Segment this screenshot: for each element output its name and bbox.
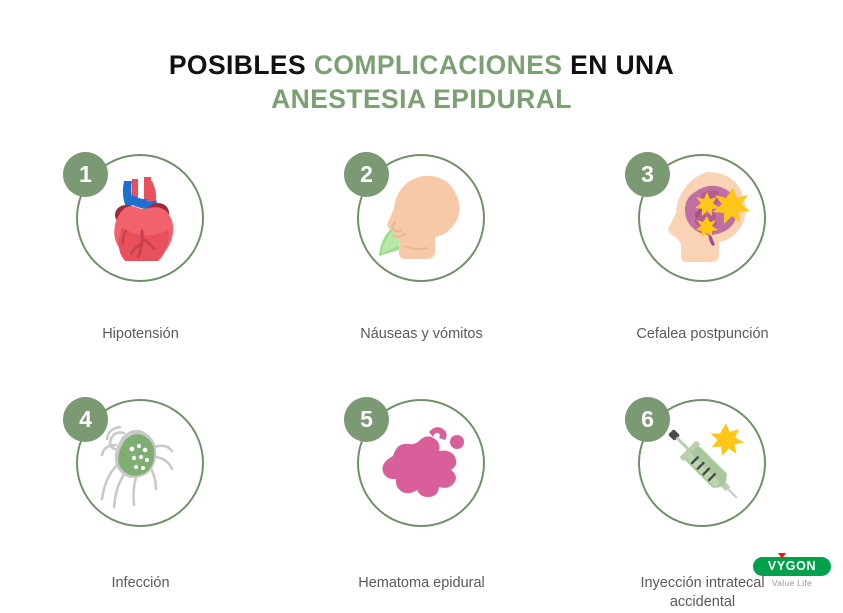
vygon-logo[interactable]: VYGON Value Life [749, 557, 835, 588]
step-badge-5: 5 [344, 397, 389, 442]
complication-item-2[interactable]: 2 Náuseas y vómitos [281, 152, 562, 345]
page-title: POSIBLES COMPLICACIONES EN UNA ANESTESIA… [0, 48, 843, 117]
complication-label-4: Infección [111, 574, 169, 594]
complication-label-5: Hematoma epidural [358, 574, 485, 594]
title-line-1: POSIBLES COMPLICACIONES EN UNA [0, 48, 843, 82]
complication-label-2: Náuseas y vómitos [360, 325, 483, 345]
complication-item-4[interactable]: 4 [0, 397, 281, 613]
vygon-red-tick-icon [778, 553, 786, 559]
title-word-enuna: EN UNA [562, 50, 674, 80]
grid-row-1: 1 [0, 152, 843, 345]
step-badge-4: 4 [63, 397, 108, 442]
icon-ring-wrap-1: 1 [63, 152, 218, 307]
infographic-root: POSIBLES COMPLICACIONES EN UNA ANESTESIA… [0, 0, 843, 596]
complication-label-3: Cefalea postpunción [636, 325, 768, 345]
icon-ring-wrap-2: 2 [344, 152, 499, 307]
vygon-tagline: Value Life [749, 578, 835, 588]
title-word-complicaciones: COMPLICACIONES [314, 50, 563, 80]
complication-item-1[interactable]: 1 [0, 152, 281, 345]
title-word-posibles: POSIBLES [169, 50, 314, 80]
vygon-logo-text: VYGON [768, 560, 816, 573]
step-badge-6: 6 [625, 397, 670, 442]
icon-ring-wrap-3: 3 [625, 152, 780, 307]
step-badge-3: 3 [625, 152, 670, 197]
complications-grid: 1 [0, 152, 843, 613]
vygon-logo-pill: VYGON [753, 557, 831, 576]
complication-label-1: Hipotensión [102, 325, 179, 345]
icon-ring-wrap-4: 4 [63, 397, 218, 552]
title-line-2: ANESTESIA EPIDURAL [0, 82, 843, 116]
complication-item-5[interactable]: 5 Hematoma epidural [281, 397, 562, 613]
complication-label-6: Inyección intratecal accidental [640, 574, 764, 613]
grid-row-2: 4 [0, 397, 843, 613]
icon-ring-wrap-5: 5 [344, 397, 499, 552]
step-badge-2: 2 [344, 152, 389, 197]
step-badge-1: 1 [63, 152, 108, 197]
icon-ring-wrap-6: 6 [625, 397, 780, 552]
complication-item-3[interactable]: 3 [562, 152, 843, 345]
